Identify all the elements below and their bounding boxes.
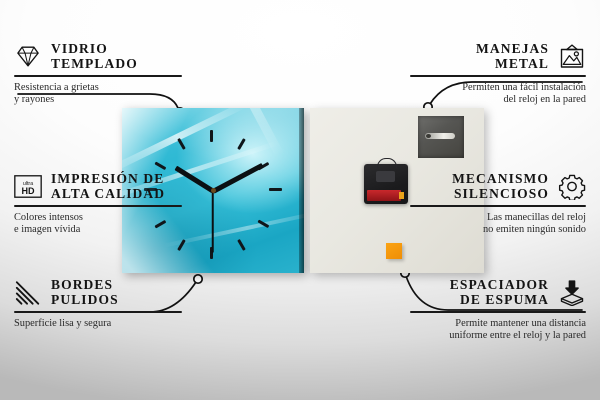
- gear-icon: [558, 173, 586, 200]
- clock-tick: [269, 188, 282, 191]
- clock-second-hand: [212, 191, 214, 253]
- feature-title: MECANISMO SILENCIOSO: [452, 172, 549, 201]
- feature-header: MANEJAS METAL: [410, 42, 586, 71]
- ultra-hd-icon: ultra HD: [14, 173, 42, 200]
- hanger-keyhole-slot: [425, 133, 455, 139]
- feature-divider: [410, 75, 586, 77]
- feature-divider: [14, 75, 182, 77]
- feature-divider: [410, 311, 586, 313]
- feature-vidrio-templado: VIDRIO TEMPLADO Resistencia a grietas y …: [14, 42, 182, 106]
- battery: [367, 190, 401, 201]
- feature-header: VIDRIO TEMPLADO: [14, 42, 182, 71]
- clock-center-pin: [211, 188, 216, 193]
- svg-text:HD: HD: [21, 186, 35, 196]
- feature-title: MANEJAS METAL: [476, 42, 549, 71]
- feature-title: ESPACIADOR DE ESPUMA: [450, 278, 549, 307]
- feature-description: Colores intensos e imagen vívida: [14, 212, 182, 237]
- clock-mechanism: [364, 164, 408, 204]
- feature-title: VIDRIO TEMPLADO: [51, 42, 138, 71]
- mechanism-adjust-knob: [376, 171, 395, 182]
- picture-frame-icon: [558, 43, 586, 70]
- feature-espaciador-espuma: ESPACIADOR DE ESPUMA Permite mantener un…: [410, 278, 586, 342]
- feature-description: Resistencia a grietas y rayones: [14, 82, 182, 107]
- feature-description: Superficie lisa y segura: [14, 318, 182, 330]
- feature-mecanismo-silencioso: MECANISMO SILENCIOSO Las manecillas del …: [410, 172, 586, 236]
- foam-spacer-icon: [558, 279, 586, 306]
- infographic-canvas: VIDRIO TEMPLADO Resistencia a grietas y …: [0, 0, 600, 400]
- feature-header: ultra HD IMPRESIÓN DE ALTA CALIDAD: [14, 172, 182, 201]
- polished-edges-icon: [14, 279, 42, 306]
- feature-description: Permite mantener una distancia uniforme …: [410, 318, 586, 343]
- feature-impresion-alta-calidad: ultra HD IMPRESIÓN DE ALTA CALIDAD Color…: [14, 172, 182, 236]
- feature-bordes-pulidos: BORDES PULIDOS Superficie lisa y segura: [14, 278, 182, 330]
- wire-dot-bordes: [194, 275, 202, 283]
- feature-title: IMPRESIÓN DE ALTA CALIDAD: [51, 172, 165, 201]
- feature-header: MECANISMO SILENCIOSO: [410, 172, 586, 201]
- feature-manejas-metal: MANEJAS METAL Permiten una fácil instala…: [410, 42, 586, 106]
- clock-glass-edge: [299, 108, 304, 273]
- feature-header: BORDES PULIDOS: [14, 278, 182, 307]
- feature-description: Las manecillas del reloj no emiten ningú…: [410, 212, 586, 237]
- diamond-icon: [14, 43, 42, 70]
- feature-divider: [410, 205, 586, 207]
- foam-spacer: [386, 243, 402, 259]
- feature-divider: [14, 311, 182, 313]
- mechanism-hanging-loop: [377, 158, 397, 168]
- feature-divider: [14, 205, 182, 207]
- clock-tick: [210, 130, 213, 142]
- feature-title: BORDES PULIDOS: [51, 278, 119, 307]
- feature-header: ESPACIADOR DE ESPUMA: [410, 278, 586, 307]
- feature-description: Permiten una fácil instalación del reloj…: [410, 82, 586, 107]
- metal-hanger-plate: [418, 116, 464, 158]
